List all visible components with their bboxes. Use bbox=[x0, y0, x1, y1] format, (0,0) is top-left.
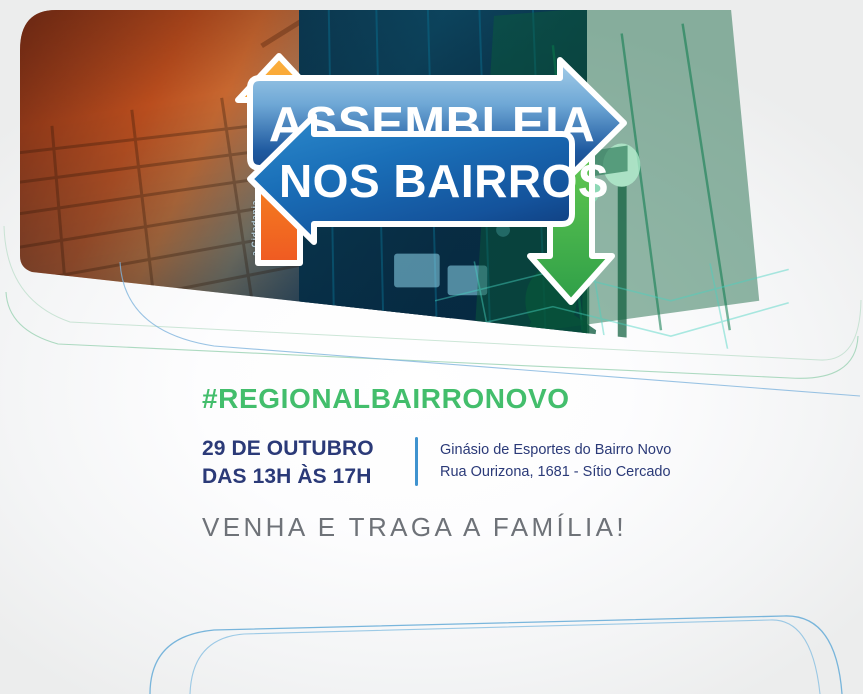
nos-bairros-label: NOS BAIRROS bbox=[279, 155, 609, 207]
tagline: VENHA E TRAGA A FAMÍLIA! bbox=[202, 512, 802, 543]
date-address-row: 29 DE OUTUBRO DAS 13H ÀS 17H Ginásio de … bbox=[202, 435, 802, 490]
date-line-1: 29 DE OUTUBRO bbox=[202, 435, 415, 463]
hashtag-regional: #REGIONALBAIRRONOVO bbox=[202, 385, 802, 413]
date-column: 29 DE OUTUBRO DAS 13H ÀS 17H bbox=[202, 435, 415, 490]
blue-curve-lower-inner bbox=[190, 620, 820, 694]
address-line-1: Ginásio de Esportes do Bairro Novo bbox=[440, 440, 671, 462]
date-line-2: DAS 13H ÀS 17H bbox=[202, 463, 415, 491]
vertical-divider bbox=[415, 437, 418, 486]
nos-bairros-arrow-banner: NOS BAIRROS bbox=[250, 116, 609, 242]
poster-text-block: #REGIONALBAIRRONOVO 29 DE OUTUBRO DAS 13… bbox=[202, 385, 802, 543]
address-column: Ginásio de Esportes do Bairro Novo Rua O… bbox=[440, 435, 671, 484]
logo-arrows-graphic: ASSEMBLEIA NOS BAIRROS bbox=[232, 48, 642, 313]
poster-canvas: a Cidadania Felicidade bbox=[0, 0, 863, 694]
assembleia-logo: ASSEMBLEIA NOS BAIRROS bbox=[232, 48, 642, 313]
address-line-2: Rua Ourizona, 1681 - Sítio Cercado bbox=[440, 462, 671, 484]
blue-curve-lower-outer bbox=[150, 616, 842, 694]
